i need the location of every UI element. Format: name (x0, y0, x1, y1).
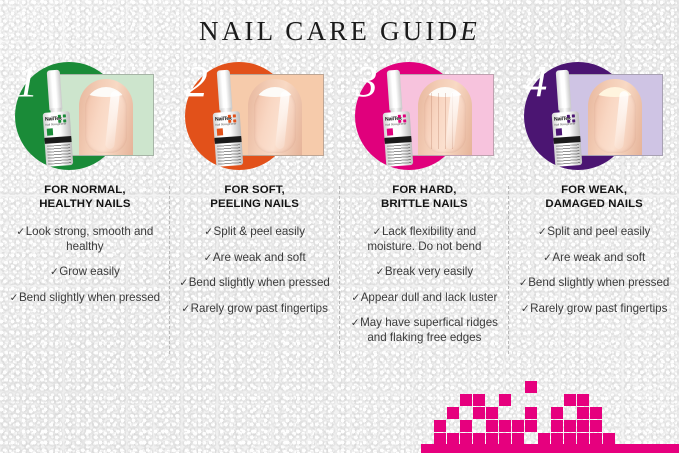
list-item: ✓Appear dull and lack luster (349, 291, 501, 306)
bottle-body: NailTekNail Strengthener (382, 111, 413, 167)
mosaic-pixel (486, 420, 498, 432)
floret-icon (228, 114, 238, 124)
mosaic-pixel (460, 420, 472, 432)
bottle-color-chip (47, 128, 53, 135)
nail-plate (254, 87, 296, 153)
column-visual: 4NailTekNail Strengthener (509, 58, 679, 176)
symptom-list: ✓Split & peel easily✓Are weak and soft✓B… (170, 225, 340, 316)
check-icon: ✓ (521, 303, 530, 315)
step-number: 2 (186, 60, 208, 104)
check-icon: ✓ (376, 266, 385, 278)
heading-line-2: DAMAGED NAILS (545, 198, 643, 210)
mosaic-pixel (564, 420, 576, 432)
bottle-cap (216, 70, 232, 111)
bottle-body: NailTekNail Strengthener (212, 111, 243, 167)
guide-column-3: 3NailTekNail StrengthenerFOR HARD,BRITTL… (340, 58, 510, 358)
column-visual: 2NailTekNail Strengthener (170, 58, 340, 176)
mosaic-pixel (499, 394, 511, 406)
bottle-subtitle-label: Nail Strengthener (385, 123, 406, 127)
bottle-cap (47, 70, 63, 111)
guide-column-4: 4NailTekNail StrengthenerFOR WEAK,DAMAGE… (509, 58, 679, 358)
mosaic-pixel (499, 420, 511, 432)
nail-plate (424, 87, 466, 153)
nail-gloss-highlight (105, 91, 120, 150)
mosaic-pixel (486, 407, 498, 419)
heading-line-2: PEELING NAILS (210, 198, 299, 210)
mosaic-pixel (577, 407, 589, 419)
heading-line-2: BRITTLE NAILS (381, 198, 468, 210)
nail-plate (594, 87, 636, 153)
symptom-list: ✓Split and peel easily✓Are weak and soft… (509, 225, 679, 316)
list-item: ✓Rarely grow past fingertips (518, 302, 670, 317)
mosaic-pixel (577, 420, 589, 432)
page-title: NAIL CARE GUIDE (0, 16, 679, 47)
mosaic-pixel (512, 433, 524, 445)
mosaic-pixel (512, 420, 524, 432)
mosaic-pixel (486, 433, 498, 445)
list-item: ✓Are weak and soft (518, 251, 670, 266)
floret-icon (567, 114, 577, 124)
heading-line-1: FOR NORMAL, (44, 184, 125, 196)
finger-illustration (588, 79, 642, 156)
mosaic-pixel (434, 433, 446, 445)
list-item: ✓Look strong, smooth and healthy (9, 225, 161, 254)
check-icon: ✓ (351, 317, 360, 329)
bottle-color-chip (386, 128, 392, 135)
list-item: ✓Break very easily (349, 265, 501, 280)
bottle-cap (556, 70, 572, 111)
title-last-letter: E (460, 16, 480, 46)
finger-illustration (418, 79, 472, 156)
bottle-fine-print (217, 144, 241, 165)
step-number: 3 (356, 60, 378, 104)
mosaic-pixel (564, 394, 576, 406)
bottle-dark-band (44, 136, 71, 144)
check-icon: ✓ (351, 292, 360, 304)
mosaic-pixel (447, 407, 459, 419)
bottle-cap (386, 70, 402, 111)
check-icon: ✓ (543, 252, 552, 264)
check-icon: ✓ (179, 277, 188, 289)
bottle-dark-band (554, 136, 581, 144)
mosaic-pixel (460, 394, 472, 406)
nail-tip (254, 87, 296, 97)
finger-illustration (79, 79, 133, 156)
list-item: ✓Grow easily (9, 265, 161, 280)
mosaic-pixel (551, 407, 563, 419)
column-heading: FOR HARD,BRITTLE NAILS (340, 184, 510, 211)
column-visual: 1NailTekNail Strengthener (0, 58, 170, 176)
bottle-color-chip (216, 128, 222, 135)
bottle-fine-print (386, 144, 410, 165)
mosaic-pixel (525, 407, 537, 419)
check-icon: ✓ (16, 226, 25, 238)
column-heading: FOR NORMAL,HEALTHY NAILS (0, 184, 170, 211)
list-item: ✓Are weak and soft (179, 251, 331, 266)
list-item: ✓Bend slightly when pressed (9, 291, 161, 306)
list-item: ✓Bend slightly when pressed (518, 276, 670, 291)
nail-tip (85, 87, 127, 97)
floret-icon (397, 114, 407, 124)
bottle-subtitle-label: Nail Strengthener (45, 123, 66, 127)
mosaic-baseline (421, 444, 679, 453)
bottle-body: NailTekNail Strengthener (43, 111, 74, 167)
title-text: NAIL CARE GUID (199, 16, 460, 46)
mosaic-pixel (590, 433, 602, 445)
list-item: ✓Split and peel easily (518, 225, 670, 240)
mosaic-pixel (577, 394, 589, 406)
check-icon: ✓ (50, 266, 59, 278)
mosaic-pixel (473, 407, 485, 419)
mosaic-pixel (551, 420, 563, 432)
guide-column-1: 1NailTekNail StrengthenerFOR NORMAL,HEAL… (0, 58, 170, 358)
check-icon: ✓ (10, 292, 19, 304)
check-icon: ✓ (538, 226, 547, 238)
list-item: ✓Bend slightly when pressed (179, 276, 331, 291)
column-visual: 3NailTekNail Strengthener (340, 58, 510, 176)
bottle-body: NailTekNail Strengthener (552, 111, 583, 167)
nail-plate (85, 87, 127, 153)
pixel-mosaic-decoration (421, 365, 679, 453)
mosaic-pixel (447, 433, 459, 445)
column-heading: FOR SOFT,PEELING NAILS (170, 184, 340, 211)
check-icon: ✓ (204, 252, 213, 264)
guide-column-2: 2NailTekNail StrengthenerFOR SOFT,PEELIN… (170, 58, 340, 358)
step-number: 1 (16, 60, 38, 104)
mosaic-pixel (525, 420, 537, 432)
nail-tip (594, 87, 636, 97)
step-number: 4 (525, 60, 547, 104)
bottle-color-chip (556, 128, 562, 135)
list-item: ✓Lack flexibility and moisture. Do not b… (349, 225, 501, 254)
finger-illustration (248, 79, 302, 156)
nail-gloss-highlight (614, 91, 629, 150)
mosaic-pixel (434, 420, 446, 432)
guide-columns: 1NailTekNail StrengthenerFOR NORMAL,HEAL… (0, 58, 679, 358)
bottle-fine-print (47, 144, 71, 165)
heading-line-2: HEALTHY NAILS (39, 198, 130, 210)
mosaic-pixel (473, 394, 485, 406)
check-icon: ✓ (181, 303, 190, 315)
column-heading: FOR WEAK,DAMAGED NAILS (509, 184, 679, 211)
heading-line-1: FOR SOFT, (224, 184, 284, 196)
symptom-list: ✓Lack flexibility and moisture. Do not b… (340, 225, 510, 345)
mosaic-pixel (577, 433, 589, 445)
mosaic-pixel (564, 433, 576, 445)
bottle-subtitle-label: Nail Strengthener (555, 123, 576, 127)
mosaic-pixel (538, 433, 550, 445)
check-icon: ✓ (204, 226, 213, 238)
check-icon: ✓ (519, 277, 528, 289)
bottle-fine-print (556, 144, 580, 165)
mosaic-pixel (590, 420, 602, 432)
mosaic-pixel (551, 433, 563, 445)
bottle-dark-band (214, 136, 241, 144)
list-item: ✓Rarely grow past fingertips (179, 302, 331, 317)
list-item: ✓May have superfical ridges and flaking … (349, 316, 501, 345)
mosaic-pixel (473, 433, 485, 445)
mosaic-pixel (525, 381, 537, 393)
floret-icon (58, 114, 68, 124)
bottle-subtitle-label: Nail Strengthener (215, 123, 236, 127)
heading-line-1: FOR HARD, (392, 184, 456, 196)
mosaic-pixel (590, 407, 602, 419)
nail-gloss-highlight (275, 91, 290, 150)
list-item: ✓Split & peel easily (179, 225, 331, 240)
mosaic-pixel (499, 433, 511, 445)
heading-line-1: FOR WEAK, (561, 184, 627, 196)
mosaic-pixel (603, 433, 615, 445)
symptom-list: ✓Look strong, smooth and healthy✓Grow ea… (0, 225, 170, 305)
check-icon: ✓ (373, 226, 382, 238)
mosaic-pixel (460, 433, 472, 445)
bottle-dark-band (384, 136, 411, 144)
